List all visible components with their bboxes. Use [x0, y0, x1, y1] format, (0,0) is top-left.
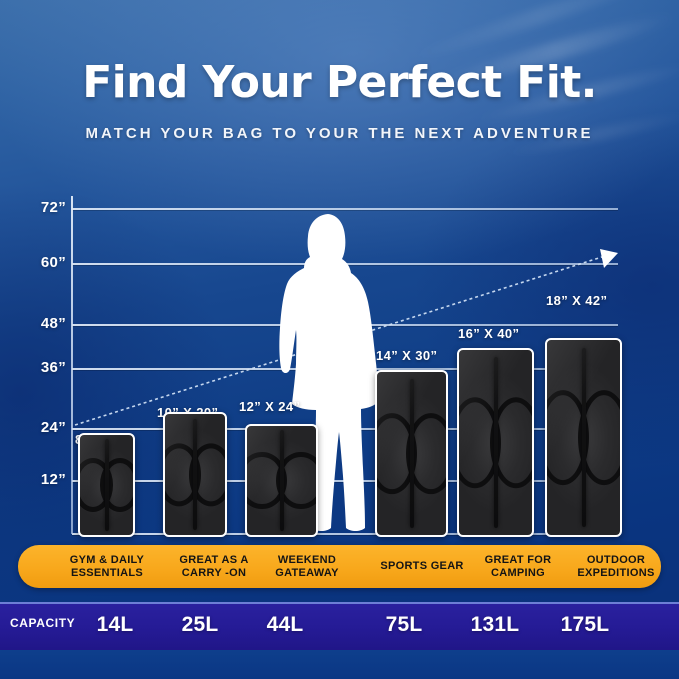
- use-case-item[interactable]: SPORTS GEAR: [370, 545, 474, 588]
- capacity-value: 44L: [228, 610, 342, 640]
- y-axis-tick-label: 12”: [22, 471, 66, 488]
- bag-bar[interactable]: [163, 412, 227, 537]
- bag-gloss: [459, 350, 532, 535]
- y-axis-tick-label: 24”: [22, 419, 66, 436]
- bag-gloss: [165, 414, 225, 535]
- bag-dimension-label: 18” X 42”: [546, 293, 607, 308]
- bag-bar[interactable]: [78, 433, 135, 537]
- bag-bar[interactable]: [245, 424, 318, 537]
- footer-bar: [0, 650, 679, 679]
- y-axis-tick-label: 48”: [22, 315, 66, 332]
- y-axis-tick-label: 60”: [22, 254, 66, 271]
- bag-dimension-label: 16” X 40”: [458, 326, 519, 341]
- y-axis-tick-label: 36”: [22, 359, 66, 376]
- bag-dimension-label: 14” X 30”: [376, 348, 437, 363]
- use-case-item[interactable]: GYM & DAILY ESSENTIALS: [48, 545, 166, 588]
- bag-gloss: [80, 435, 133, 535]
- bag-bar[interactable]: [375, 370, 448, 537]
- bag-gloss: [377, 372, 446, 535]
- use-case-strip: GYM & DAILY ESSENTIALSGREAT AS A CARRY -…: [18, 545, 661, 588]
- infographic-canvas: Find Your Perfect Fit. MATCH YOUR BAG TO…: [0, 0, 679, 679]
- capacity-value: 175L: [528, 610, 642, 640]
- y-axis-line: [71, 196, 73, 534]
- bag-dimension-label: 12” X 24”: [239, 399, 300, 414]
- use-case-item[interactable]: GREAT FOR CAMPING: [466, 545, 570, 588]
- use-case-item[interactable]: WEEKEND GATEAWAY: [248, 545, 366, 588]
- bag-gloss: [547, 340, 620, 535]
- use-case-item[interactable]: OUTDOOR EXPEDITIONS: [558, 545, 674, 588]
- bag-gloss: [247, 426, 316, 535]
- gridline: [72, 208, 618, 210]
- y-axis-tick-label: 72”: [22, 199, 66, 216]
- bag-bar[interactable]: [457, 348, 534, 537]
- bag-bar[interactable]: [545, 338, 622, 537]
